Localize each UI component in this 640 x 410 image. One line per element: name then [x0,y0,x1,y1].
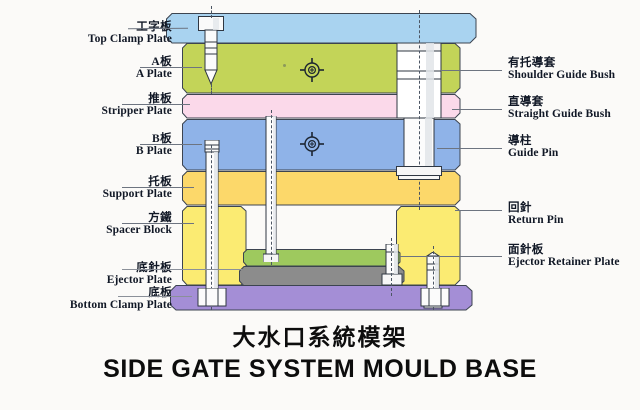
diagram-title: 大水口系統模架 SIDE GATE SYSTEM MOULD BASE [0,318,640,384]
label-return-pin: 回針 Return Pin [508,203,564,226]
center-mark-b-plate [300,132,324,156]
label-ejector-retainer-plate-cn: 面針板 [508,245,620,257]
leader-guide-pin [437,148,502,149]
return-pin-left [201,140,223,305]
leader-bottom-clamp-plate [118,296,192,297]
guide-pin-centerline [419,10,420,210]
label-bottom-clamp-plate: 底板 Bottom Clamp Plate [70,288,172,311]
cap-screw-a-side-centerline-low [211,84,212,94]
label-return-pin-en: Return Pin [508,215,564,227]
mould-base-diagram-canvas: 工字板 Top Clamp Plate A板 A Plate 推板 Stripp… [0,0,640,410]
label-spacer-block: 方鐵 Spacer Block [106,213,172,236]
leader-return-pin [455,210,502,211]
label-a-plate: A板 A Plate [136,57,172,80]
label-support-plate: 托板 Support Plate [103,177,172,200]
title-english: SIDE GATE SYSTEM MOULD BASE [0,355,640,384]
guide-bush-seat [396,166,442,176]
leader-stripper-plate [122,104,190,105]
leader-a-plate [140,67,202,68]
label-ejector-plate: 底針板 Ejector Plate [107,263,172,286]
cap-screw-bottom-right-head [419,288,451,310]
leader-b-plate [140,144,202,145]
leader-spacer-block [122,223,194,224]
return-pin-right [381,244,403,290]
leader-support-plate [122,187,194,188]
label-shoulder-guide-bush: 有托導套 Shoulder Guide Bush [508,58,615,81]
label-bottom-clamp-plate-en: Bottom Clamp Plate [70,300,172,312]
label-return-pin-cn: 回針 [508,203,564,215]
label-ejector-retainer-plate-en: Ejector Retainer Plate [508,257,620,269]
label-top-clamp-plate: 工字板 Top Clamp Plate [88,22,172,45]
label-a-plate-en: A Plate [136,69,172,81]
return-pin-left-centerline [211,145,212,310]
label-top-clamp-plate-en: Top Clamp Plate [88,34,172,46]
label-straight-guide-bush-cn: 直導套 [508,97,611,109]
label-bottom-clamp-plate-cn: 底板 [70,288,172,300]
label-guide-pin-cn: 導柱 [508,136,558,148]
leader-ejector-retainer-plate [400,256,502,257]
leader-ejector-plate [122,269,242,270]
label-spacer-block-en: Spacer Block [106,225,172,237]
title-chinese: 大水口系統模架 [0,318,640,352]
label-stripper-plate-en: Stripper Plate [102,106,173,118]
label-guide-pin-en: Guide Pin [508,148,558,160]
label-ejector-retainer-plate: 面針板 Ejector Retainer Plate [508,245,620,268]
label-support-plate-en: Support Plate [103,189,172,201]
label-b-plate-en: B Plate [136,146,172,158]
label-shoulder-guide-bush-cn: 有托導套 [508,58,615,70]
cap-screw-bottom-left-head [196,288,228,310]
label-ejector-plate-en: Ejector Plate [107,275,172,287]
label-shoulder-guide-bush-en: Shoulder Guide Bush [508,70,615,82]
leader-shoulder-guide-bush [440,70,502,71]
speck-mark [283,64,286,67]
ejector-pin-center-centerline [271,110,272,265]
label-stripper-plate: 推板 Stripper Plate [102,94,173,117]
center-mark-a-plate [300,58,324,82]
label-b-plate: B板 B Plate [136,134,172,157]
label-guide-pin: 導柱 Guide Pin [508,136,558,159]
cap-screw-a-side-centerline [211,6,212,18]
cap-screw-a-side [198,16,224,86]
label-straight-guide-bush-en: Straight Guide Bush [508,109,611,121]
label-straight-guide-bush: 直導套 Straight Guide Bush [508,97,611,120]
leader-straight-guide-bush [452,109,502,110]
return-pin-right-centerline [391,238,392,296]
